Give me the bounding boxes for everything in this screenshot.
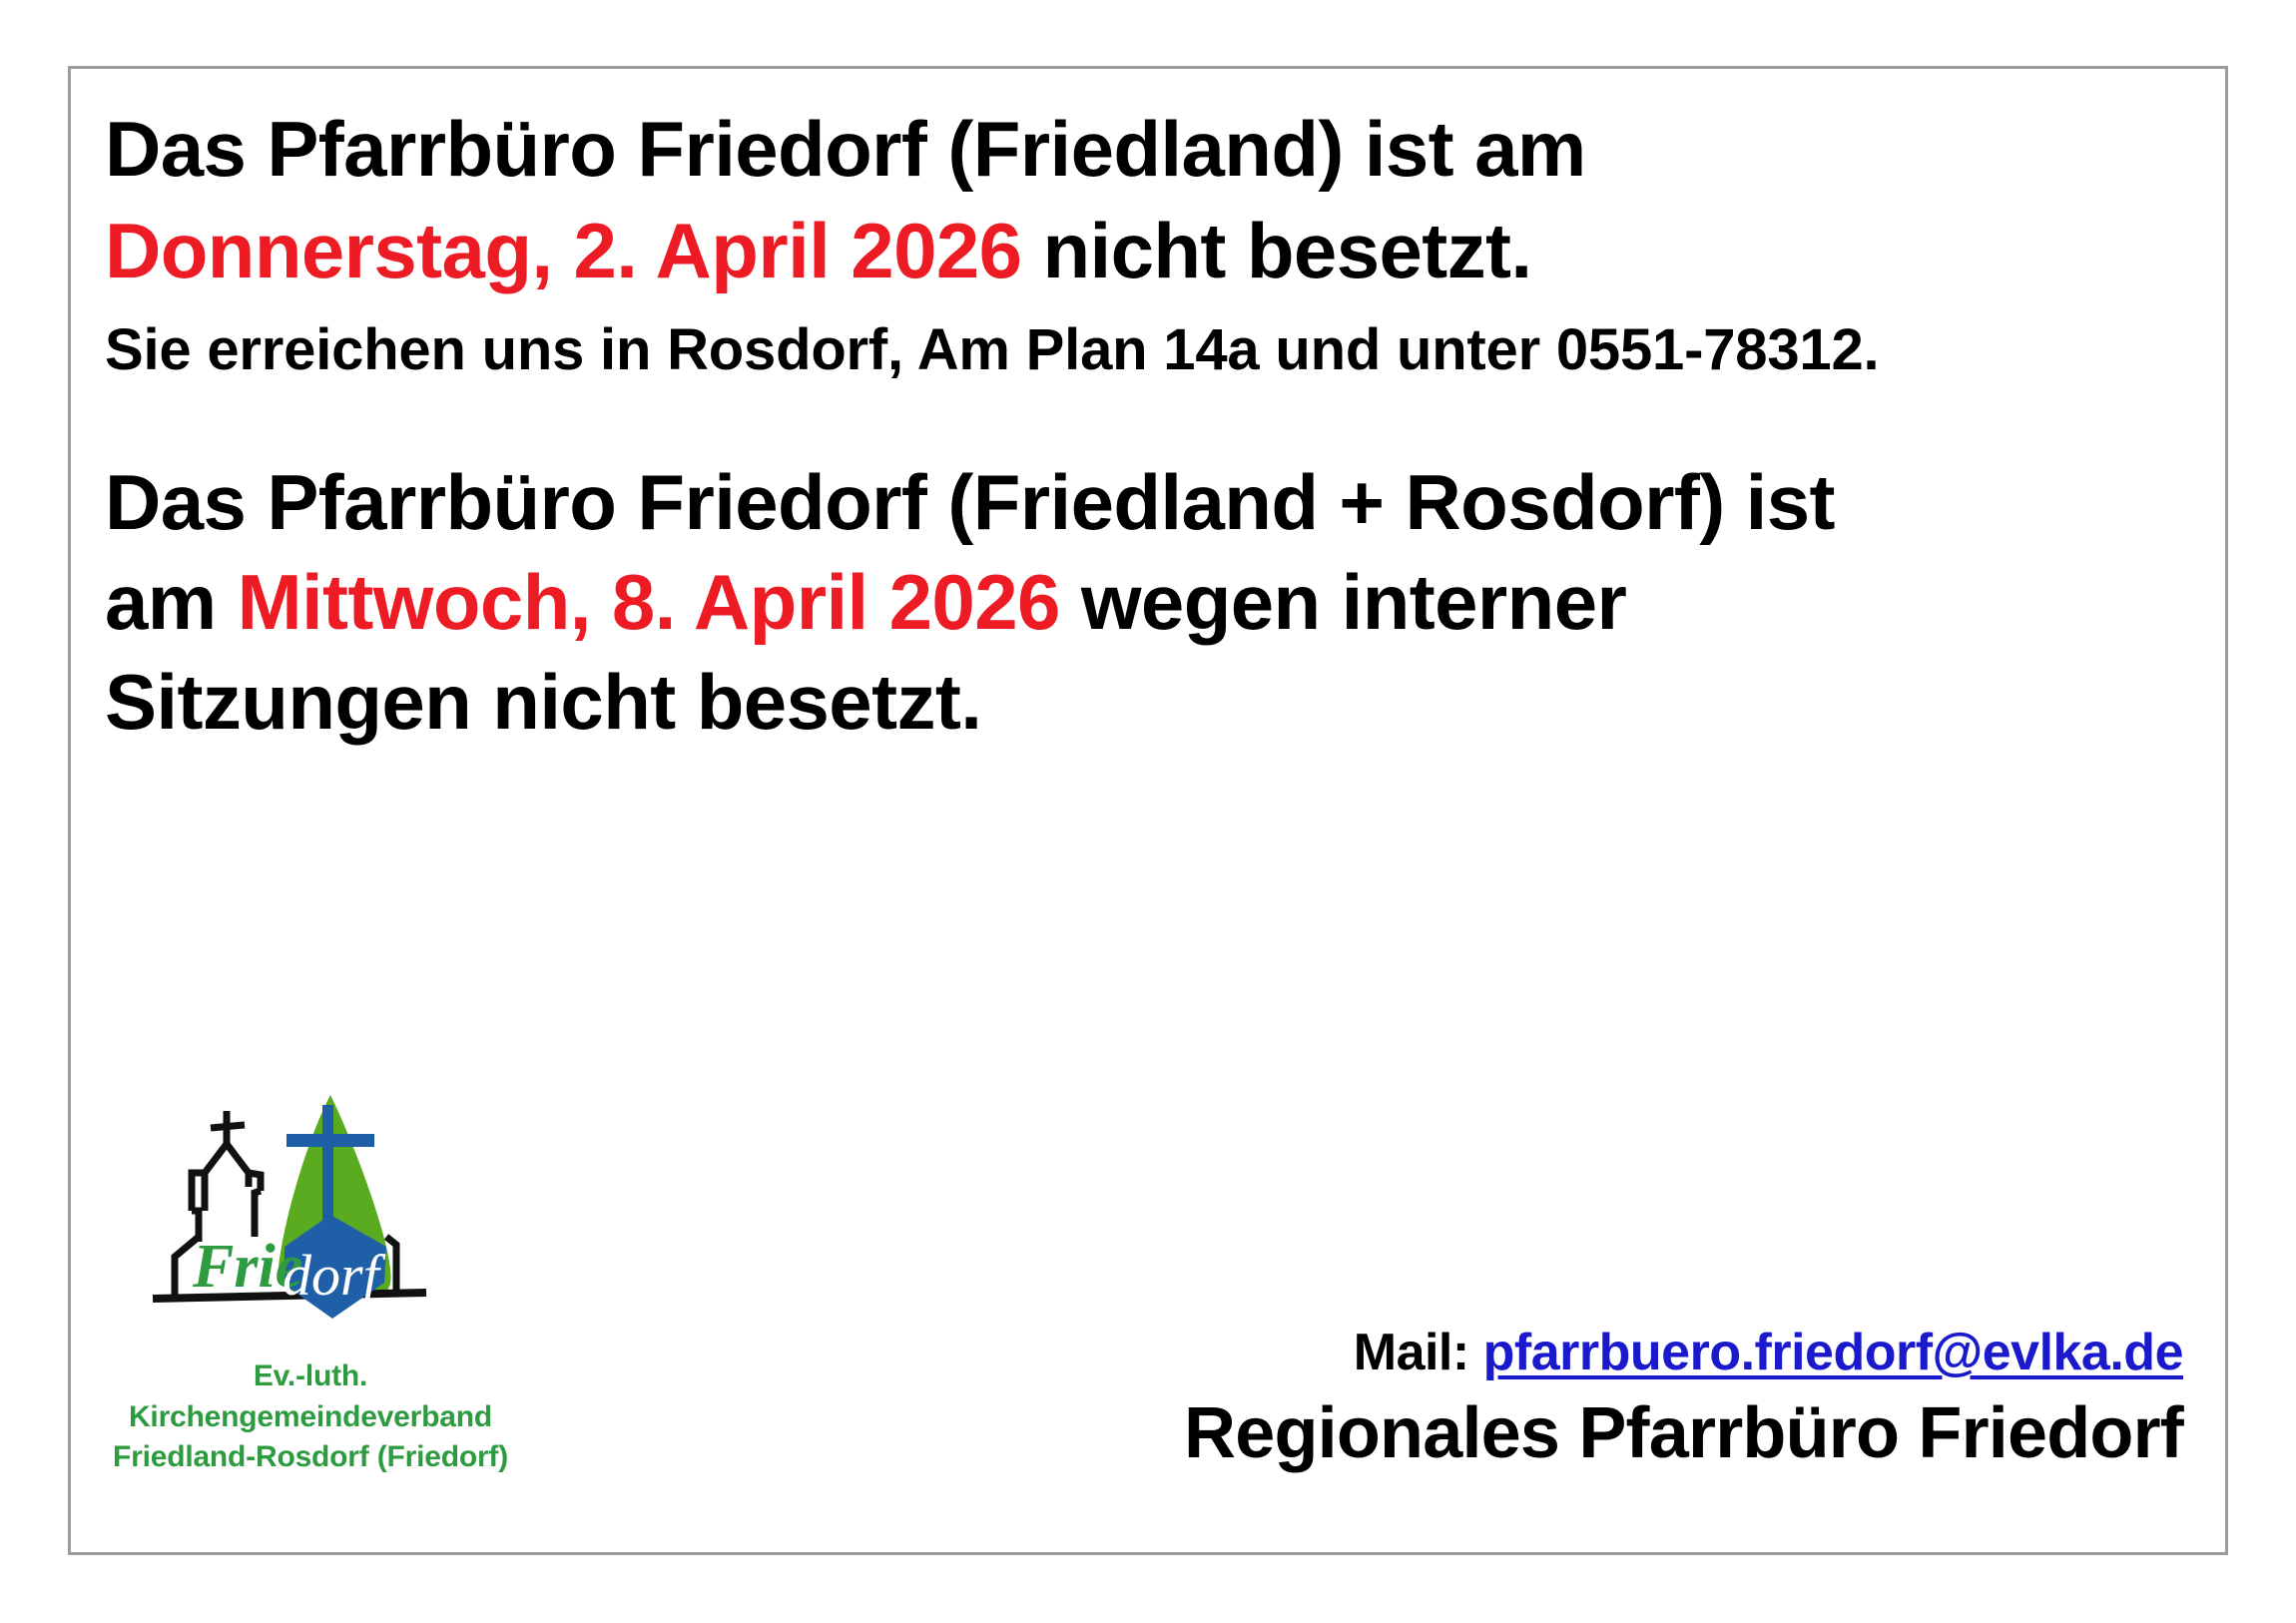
contact-block: Mail: pfarrbuero.friedorf@evlka.de Regio…: [1184, 1323, 2183, 1474]
organisation-logo: Frie dorf Ev.-luth. Kirchengemeindeverba…: [101, 1087, 600, 1478]
mail-line: Mail: pfarrbuero.friedorf@evlka.de: [1184, 1323, 2183, 1382]
paragraph-two-line-2: am Mittwoch, 8. April 2026 wegen interne…: [105, 556, 2191, 648]
office-name: Regionales Pfarrbüro Friedorf: [1184, 1392, 2183, 1474]
paragraph-two-line-3: Sitzungen nicht besetzt.: [105, 656, 2191, 748]
paragraph-one-line-2-rest: nicht besetzt.: [1021, 207, 1531, 294]
paragraph-two-line-1: Das Pfarrbüro Friedorf (Friedland + Rosd…: [105, 456, 2191, 548]
logo-caption-line-2: Friedland-Rosdorf (Friedorf): [101, 1437, 520, 1478]
paragraph-two-line-2-prefix: am: [105, 558, 238, 646]
alternate-contact-line: Sie erreichen uns in Rosdorf, Am Plan 14…: [105, 316, 2171, 384]
friedorf-logo-graphic: Frie dorf: [135, 1087, 464, 1356]
mail-label: Mail:: [1354, 1324, 1469, 1381]
poster-page: Das Pfarrbüro Friedorf (Friedland) ist a…: [0, 0, 2296, 1623]
notice-paragraph-two: Das Pfarrbüro Friedorf (Friedland + Rosd…: [105, 456, 2191, 748]
notice-body: Das Pfarrbüro Friedorf (Friedland) ist a…: [71, 69, 2225, 1552]
paragraph-one-line-1: Das Pfarrbüro Friedorf (Friedland) ist a…: [105, 103, 2171, 195]
logo-caption-line-1: Ev.-luth. Kirchengemeindeverband: [101, 1356, 520, 1437]
closure-date-two: Mittwoch, 8. April 2026: [238, 558, 1060, 646]
friedorf-logo-mark: Frie dorf: [135, 1087, 464, 1356]
logo-wordmark-dorf: dorf: [283, 1243, 386, 1308]
notice-paragraph-one: Das Pfarrbüro Friedorf (Friedland) ist a…: [105, 103, 2171, 385]
closure-date-one: Donnerstag, 2. April 2026: [105, 207, 1021, 294]
paragraph-one-line-2: Donnerstag, 2. April 2026 nicht besetzt.: [105, 205, 2171, 296]
notice-frame: Das Pfarrbüro Friedorf (Friedland) ist a…: [68, 66, 2228, 1555]
mail-address-link[interactable]: pfarrbuero.friedorf@evlka.de: [1483, 1324, 2183, 1381]
paragraph-two-line-2-rest: wegen interner: [1060, 558, 1626, 646]
